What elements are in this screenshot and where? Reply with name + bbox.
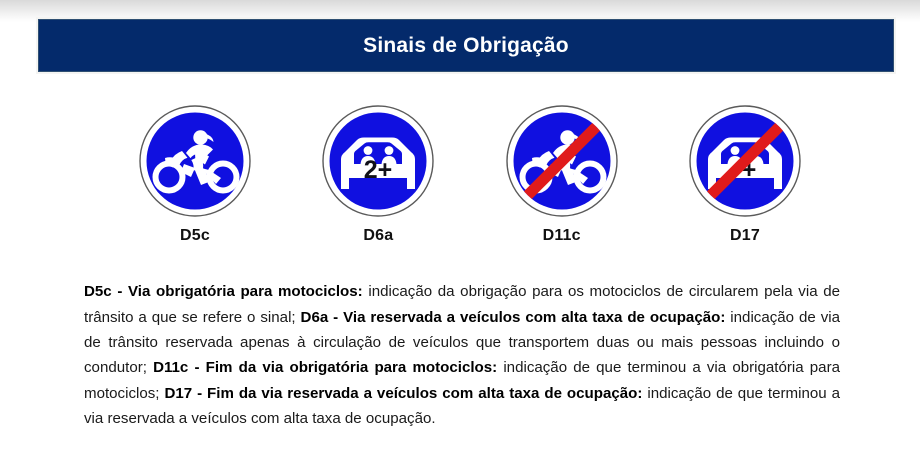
sign-label-d11c: D11c <box>543 227 581 245</box>
sign-card-d17: + D17 <box>670 104 820 245</box>
header-banner: Sinais de Obrigação <box>36 17 896 74</box>
signs-description-paragraph: D5c - Via obrigatória para motociclos: i… <box>84 279 840 431</box>
sign-card-d6a: 2+ D6a <box>303 104 453 245</box>
sign-card-d5c: D5c <box>120 104 270 245</box>
motorcycle-mandatory-sign-icon <box>138 104 252 218</box>
sign-label-d5c: D5c <box>180 227 210 245</box>
header-banner-fill: Sinais de Obrigação <box>38 19 894 72</box>
end-motorcycle-mandatory-sign-icon <box>505 104 619 218</box>
sign-label-d6a: D6a <box>363 227 393 245</box>
high-occupancy-vehicle-sign-icon: 2+ <box>321 104 435 218</box>
paragraph-term: D11c - Fim da via obrigatória para motoc… <box>153 359 497 376</box>
paragraph-term: D6a - Via reservada a veículos com alta … <box>301 309 726 326</box>
paragraph-term: D17 - Fim da via reservada a veículos co… <box>164 385 642 402</box>
signs-row: D5c 2+ <box>120 104 820 249</box>
paragraph-term: D5c - Via obrigatória para motociclos: <box>84 283 363 300</box>
document-sheet: Sinais de Obrigação <box>0 0 920 464</box>
page-title: Sinais de Obrigação <box>363 34 569 58</box>
sign-label-d17: D17 <box>730 227 760 245</box>
svg-text:2+: 2+ <box>364 156 393 184</box>
end-high-occupancy-vehicle-sign-icon: + <box>688 104 802 218</box>
sign-card-d11c: D11c <box>487 104 637 245</box>
